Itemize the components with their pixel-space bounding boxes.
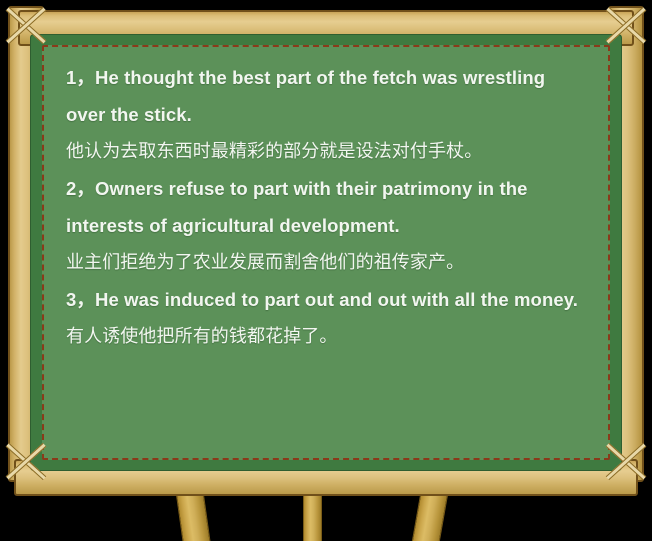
board-line-1: 1，He thought the best part of the fetch … bbox=[66, 59, 598, 96]
easel-leg-center bbox=[303, 495, 322, 541]
board-line-6: 业主们拒绝为了农业发展而割舍他们的祖传家产。 bbox=[66, 244, 598, 281]
easel-leg-right bbox=[412, 495, 448, 541]
chalkboard: 1，He thought the best part of the fetch … bbox=[30, 34, 622, 471]
board-line-7: 3，He was induced to part out and out wit… bbox=[66, 281, 598, 318]
chalkboard-writing-surface[interactable]: 1，He thought the best part of the fetch … bbox=[42, 45, 610, 460]
chalkboard-easel-scene: 1，He thought the best part of the fetch … bbox=[0, 0, 652, 539]
chalkboard-text-block: 1，He thought the best part of the fetch … bbox=[66, 59, 598, 355]
board-line-5: interests of agricultural development. bbox=[66, 207, 598, 244]
board-line-3: 他认为去取东西时最精彩的部分就是设法对付手杖。 bbox=[66, 133, 598, 170]
easel-leg-left bbox=[176, 495, 210, 541]
board-line-2: over the stick. bbox=[66, 96, 598, 133]
board-line-4: 2，Owners refuse to part with their patri… bbox=[66, 170, 598, 207]
board-line-8: 有人诱使他把所有的钱都花掉了。 bbox=[66, 318, 598, 355]
